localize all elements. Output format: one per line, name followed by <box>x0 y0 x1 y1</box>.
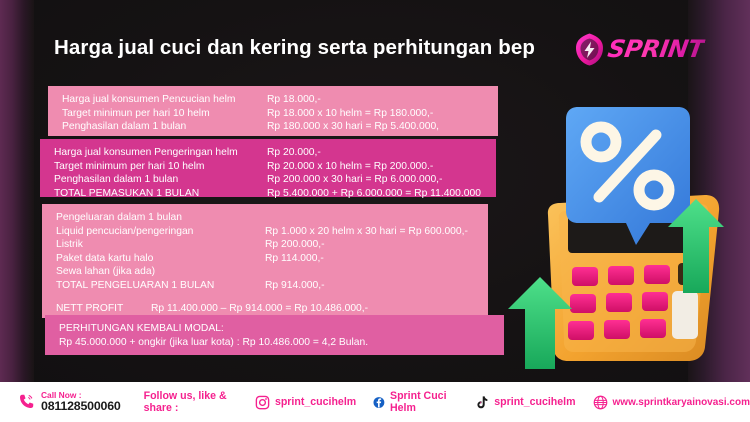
sprint-logo: SPRINT <box>574 30 704 68</box>
tiktok-handle: sprint_cucihelm <box>494 396 575 408</box>
row-label: Penghasilan dalam 1 bulan <box>54 173 267 187</box>
table-row: Harga jual konsumen Pengeringan helm Rp … <box>54 146 496 160</box>
social-tiktok[interactable]: sprint_cucihelm <box>474 395 575 410</box>
expenses-block: Pengeluaran dalam 1 bulan Liquid pencuci… <box>42 204 488 318</box>
tiktok-icon <box>474 395 489 410</box>
row-value: Rp 914.000,- <box>265 279 325 293</box>
row-label: Liquid pencucian/pengeringan <box>56 225 265 239</box>
table-row: Liquid pencucian/pengeringan Rp 1.000 x … <box>56 225 488 239</box>
table-row: Pengeluaran dalam 1 bulan <box>56 211 488 225</box>
table-row-total: TOTAL PENGELUARAN 1 BULAN Rp 914.000,- <box>56 279 488 293</box>
row-label: Target minimun per hari 10 helm <box>62 107 267 121</box>
call-now-number: 081128500060 <box>41 400 121 413</box>
nett-profit-row: NETT PROFIT Rp 11.400.000 – Rp 914.000 =… <box>56 302 488 316</box>
table-row: Listrik Rp 200.000,- <box>56 238 488 252</box>
social-instagram[interactable]: sprint_cucihelm <box>255 395 356 410</box>
row-label: Sewa lahan (jika ada) <box>56 265 265 279</box>
table-row: Target minimun per hari 10 helm Rp 18.00… <box>62 107 498 121</box>
breakeven-heading: PERHITUNGAN KEMBALI MODAL: <box>59 322 504 336</box>
facebook-icon <box>373 395 385 410</box>
row-label: Listrik <box>56 238 265 252</box>
follow-label: Follow us, like & share : <box>144 390 240 414</box>
facebook-handle: Sprint Cuci Helm <box>390 390 457 414</box>
sprint-logo-text: SPRINT <box>606 35 706 63</box>
row-spacer <box>56 293 488 302</box>
row-value: Rp 20.000 x 10 helm = Rp 200.000.- <box>267 160 433 174</box>
phone-call-icon <box>17 392 36 411</box>
row-label: Penghasilan dalam 1 bulan <box>62 120 267 134</box>
social-website[interactable]: www.sprintkaryainovasi.com <box>593 395 750 410</box>
nett-profit-label: NETT PROFIT <box>56 302 151 316</box>
call-now-item[interactable]: Call Now : 081128500060 <box>17 391 121 413</box>
social-facebook[interactable]: Sprint Cuci Helm <box>373 390 457 414</box>
row-label: Paket data kartu halo <box>56 252 265 266</box>
row-value: Rp 18.000,- <box>267 93 321 107</box>
row-value: Rp 180.000 x 30 hari = Rp 5.400.000, <box>267 120 439 134</box>
instagram-icon <box>255 395 270 410</box>
table-row: Harga jual konsumen Pencucian helm Rp 18… <box>62 93 498 107</box>
row-value: Rp 18.000 x 10 helm = Rp 180.000,- <box>267 107 433 121</box>
instagram-handle: sprint_cucihelm <box>275 396 356 408</box>
page-title: Harga jual cuci dan kering serta perhitu… <box>54 36 535 60</box>
breakeven-formula: Rp 45.000.000 + ongkir (jika luar kota) … <box>59 336 504 350</box>
row-label: Harga jual konsumen Pencucian helm <box>62 93 267 107</box>
row-value: Rp 1.000 x 20 helm x 30 hari = Rp 600.00… <box>265 225 468 239</box>
income-drying-block: Harga jual konsumen Pengeringan helm Rp … <box>40 139 496 197</box>
globe-icon <box>593 395 608 410</box>
row-label: TOTAL PENGELUARAN 1 BULAN <box>56 279 265 293</box>
poster-canvas: Harga jual cuci dan kering serta perhitu… <box>0 0 750 422</box>
table-row: Sewa lahan (jika ada) <box>56 265 488 279</box>
calculator-3d-illustration <box>500 95 750 370</box>
row-label: TOTAL PEMASUKAN 1 BULAN <box>54 187 267 201</box>
table-row: Target minimum per hari 10 helm Rp 20.00… <box>54 160 496 174</box>
table-row: Penghasilan dalam 1 bulan Rp 200.000 x 3… <box>54 173 496 187</box>
table-row: Penghasilan dalam 1 bulan Rp 180.000 x 3… <box>62 120 498 134</box>
row-value: Rp 5.400.000 + Rp 6.000.000 = Rp 11.400.… <box>267 187 481 201</box>
income-washing-block: Harga jual konsumen Pencucian helm Rp 18… <box>48 86 498 136</box>
row-value: Rp 114.000,- <box>265 252 324 266</box>
breakeven-block: PERHITUNGAN KEMBALI MODAL: Rp 45.000.000… <box>45 315 504 355</box>
row-value: Rp 200.000 x 30 hari = Rp 6.000.000,- <box>267 173 442 187</box>
table-row: Paket data kartu halo Rp 114.000,- <box>56 252 488 266</box>
row-value: Rp 200.000,- <box>265 238 325 252</box>
row-label: Pengeluaran dalam 1 bulan <box>56 211 265 225</box>
website-url: www.sprintkaryainovasi.com <box>613 397 750 408</box>
table-row-total: TOTAL PEMASUKAN 1 BULAN Rp 5.400.000 + R… <box>54 187 496 201</box>
footer-bar: Call Now : 081128500060 Follow us, like … <box>0 382 750 422</box>
nett-profit-value: Rp 11.400.000 – Rp 914.000 = Rp 10.486.0… <box>151 302 368 316</box>
row-label: Target minimum per hari 10 helm <box>54 160 267 174</box>
row-label: Harga jual konsumen Pengeringan helm <box>54 146 267 160</box>
row-value: Rp 20.000,- <box>267 146 321 160</box>
sprint-bolt-icon <box>574 33 605 66</box>
